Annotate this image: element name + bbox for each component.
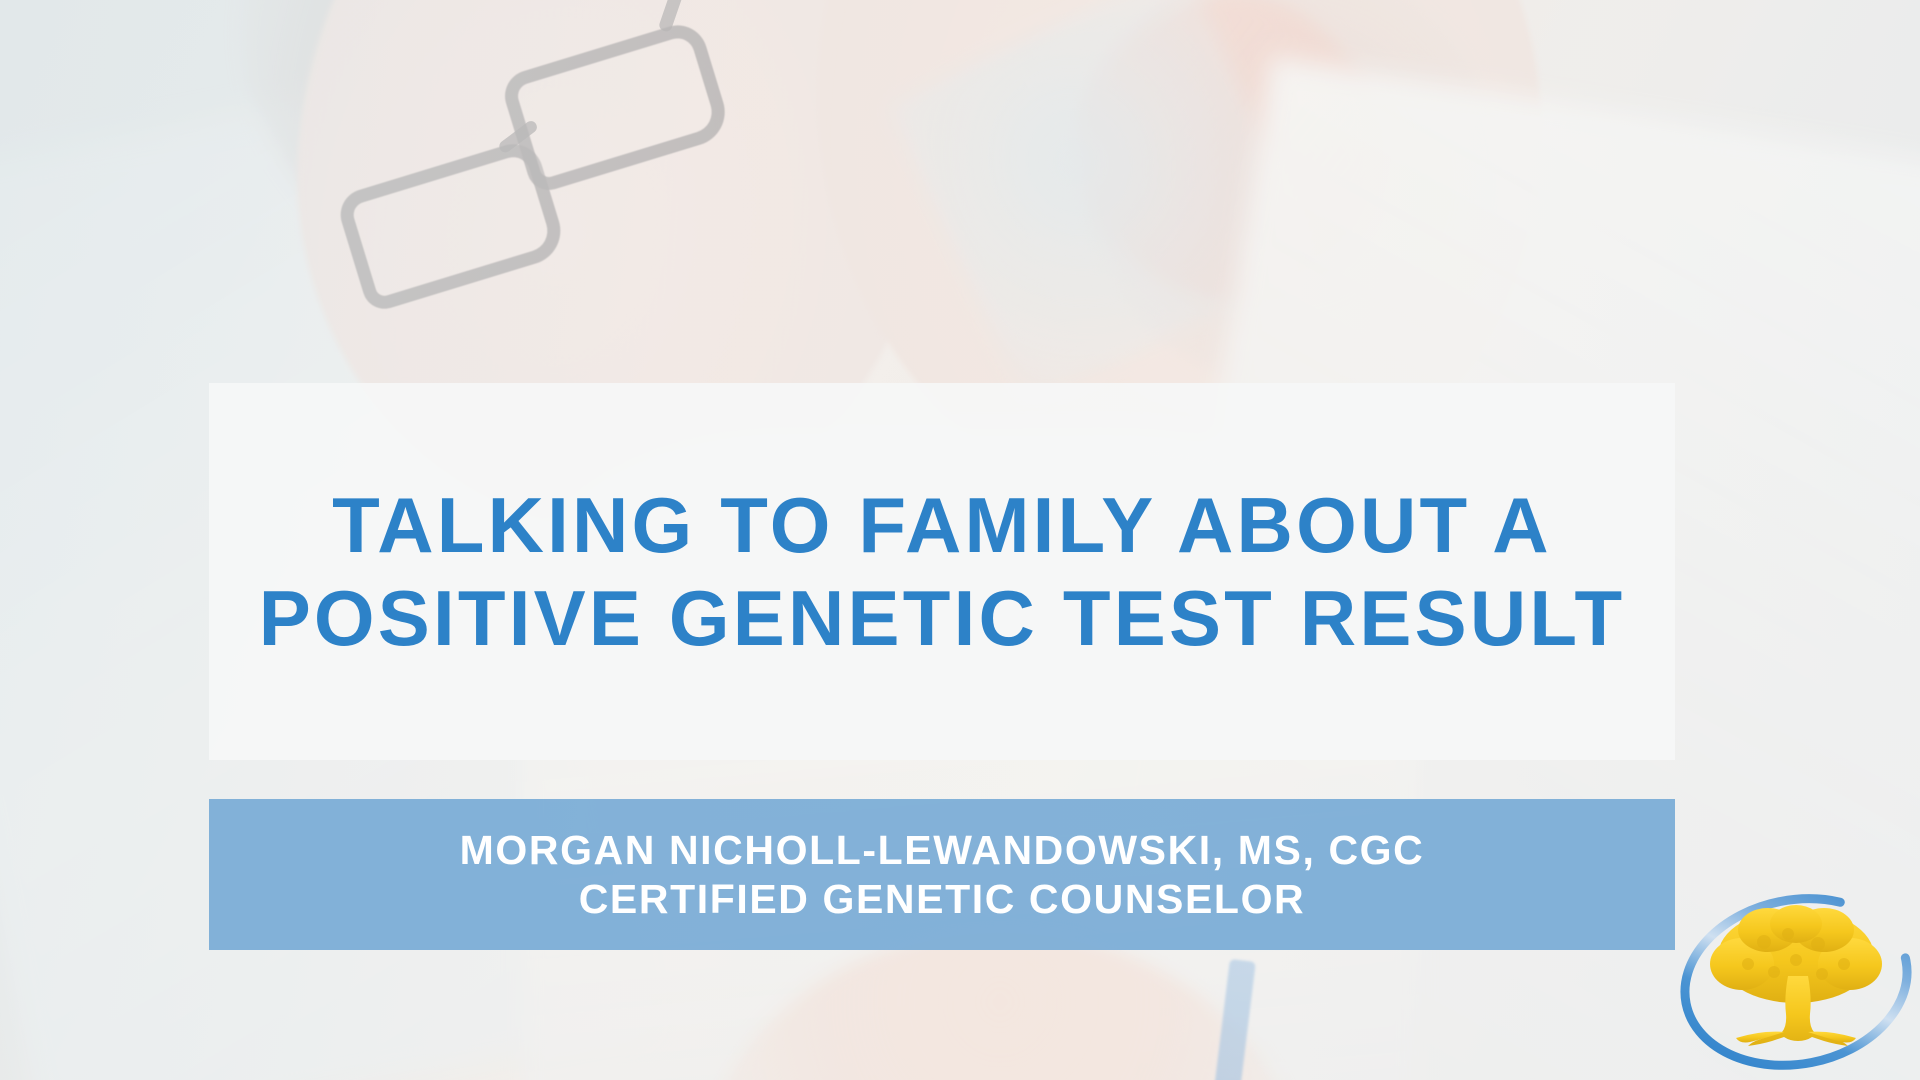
byline-panel: MORGAN NICHOLL-LEWANDOWSKI, MS, CGC CERT…	[209, 799, 1675, 950]
presentation-slide: TALKING TO FAMILY ABOUT A POSITIVE GENET…	[0, 0, 1920, 1080]
page-title: TALKING TO FAMILY ABOUT A POSITIVE GENET…	[231, 479, 1653, 663]
logo-tree-icon	[1710, 905, 1882, 1046]
presenter-name: MORGAN NICHOLL-LEWANDOWSKI, MS, CGC	[460, 826, 1425, 874]
tree-logo	[1672, 884, 1920, 1080]
presenter-role: CERTIFIED GENETIC COUNSELOR	[579, 875, 1306, 923]
title-panel: TALKING TO FAMILY ABOUT A POSITIVE GENET…	[209, 383, 1675, 760]
